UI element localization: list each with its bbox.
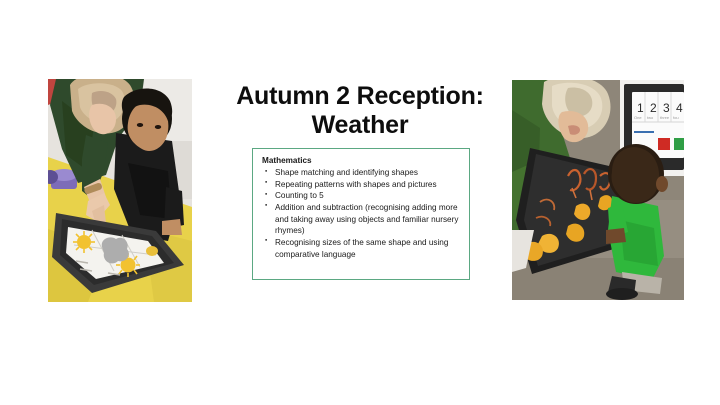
list-item: Shape matching and identifying shapes — [261, 167, 461, 179]
title-line-2: Weather — [312, 111, 409, 139]
photo-left-classroom-worksheet — [48, 79, 192, 302]
mathematics-content-box: Mathematics Shape matching and identifyi… — [252, 148, 470, 280]
page-title: Autumn 2 Reception: Weather — [205, 82, 515, 140]
list-item: Repeating patterns with shapes and pictu… — [261, 179, 461, 191]
svg-text:two: two — [647, 115, 654, 120]
list-item: Addition and subtraction (recognising ad… — [261, 202, 461, 237]
list-item: Counting to 5 — [261, 190, 461, 202]
svg-text:1: 1 — [637, 101, 644, 115]
svg-text:4: 4 — [676, 101, 683, 115]
objectives-list: Shape matching and identifying shapes Re… — [261, 167, 461, 260]
title-line-1: Autumn 2 Reception: — [236, 82, 484, 110]
svg-text:fou: fou — [673, 115, 679, 120]
list-item: Recognising sizes of the same shape and … — [261, 237, 461, 260]
subject-heading: Mathematics — [262, 155, 461, 166]
slide-canvas: Autumn 2 Reception: Weather — [0, 0, 720, 405]
svg-text:three: three — [660, 115, 670, 120]
svg-text:2: 2 — [650, 101, 657, 115]
svg-text:One: One — [634, 115, 642, 120]
svg-text:3: 3 — [663, 101, 670, 115]
photo-right-mark-making-tray: 1 2 3 4 One two three fou — [512, 80, 684, 300]
